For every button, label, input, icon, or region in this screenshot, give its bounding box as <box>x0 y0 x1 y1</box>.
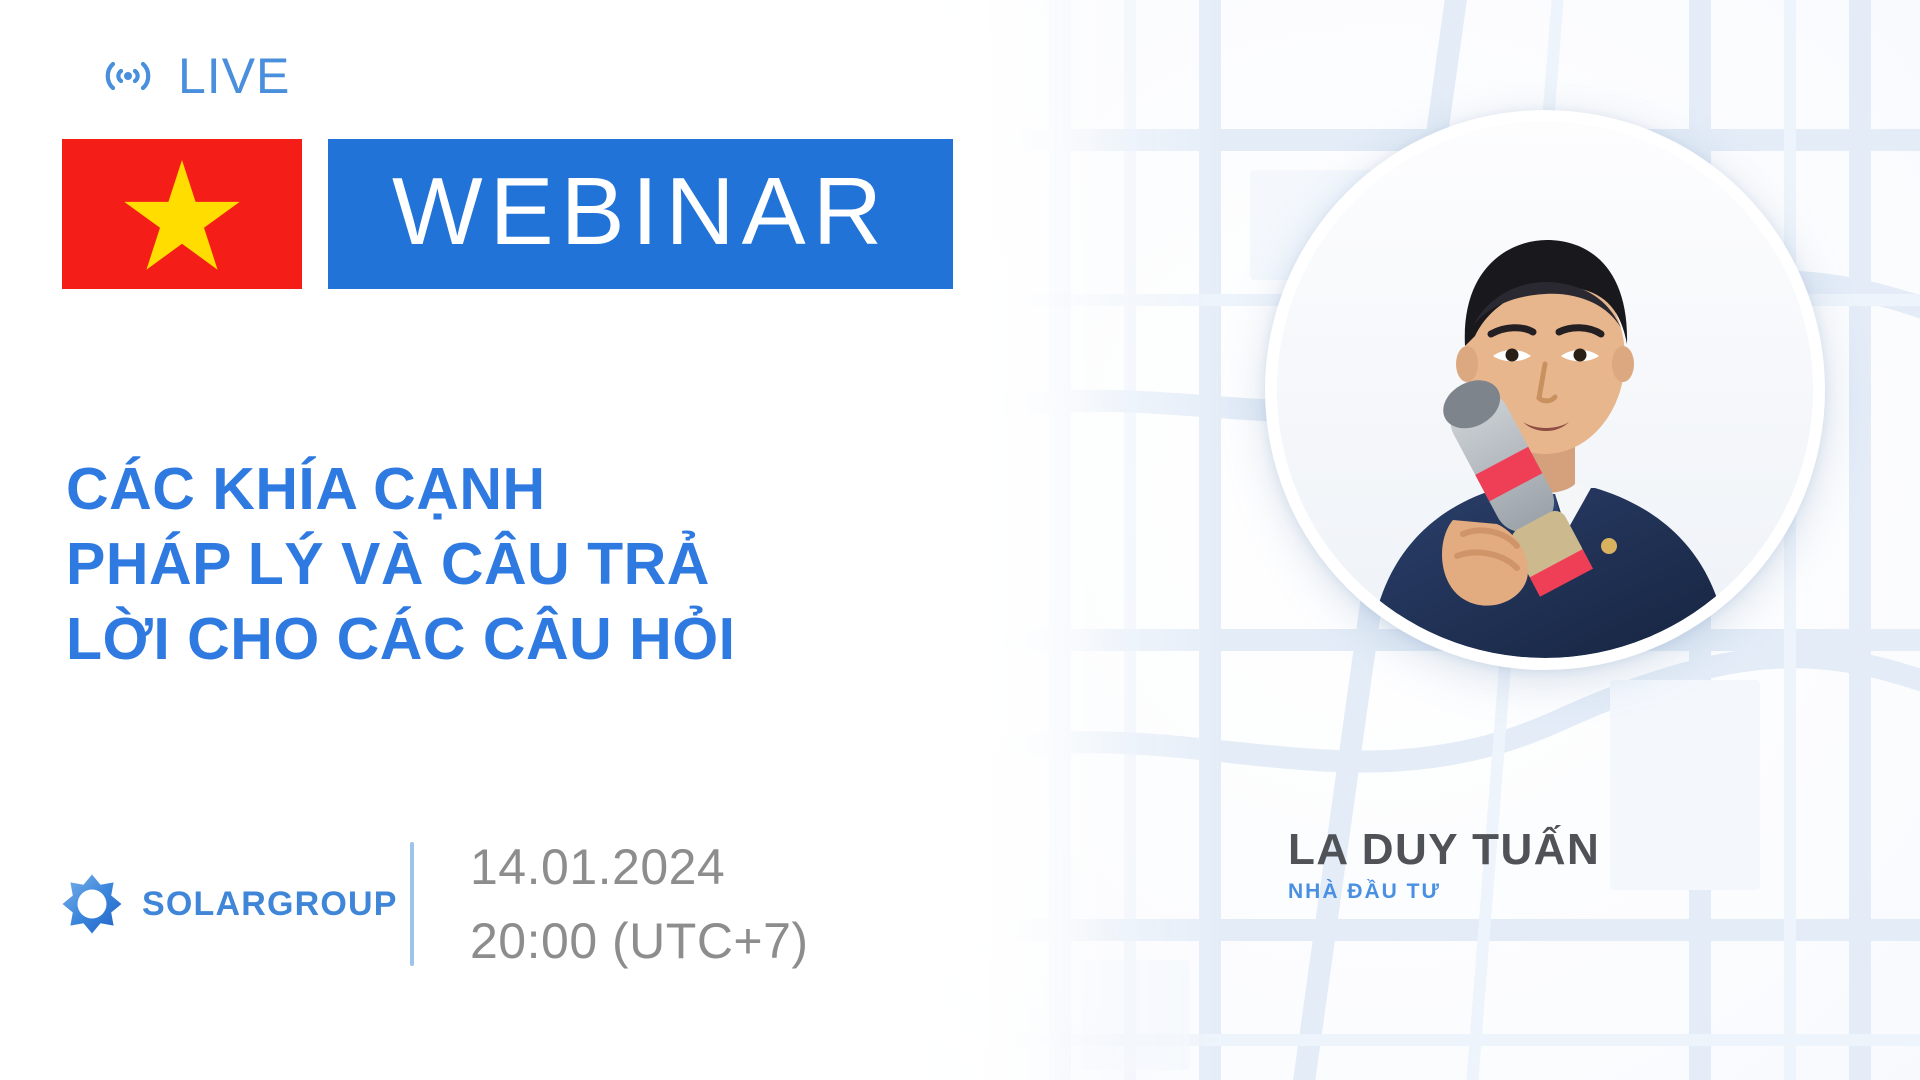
event-date: 14.01.2024 <box>470 830 809 904</box>
solargroup-logo: SOLARGROUP <box>60 872 400 936</box>
speaker-name: LA DUY TUẤN <box>1288 826 1888 874</box>
vietnam-flag-icon <box>62 139 302 289</box>
live-badge: LIVE <box>96 50 290 102</box>
speaker-portrait <box>1277 122 1813 658</box>
page-title: CÁC KHÍA CẠNH PHÁP LÝ VÀ CÂU TRẢ LỜI CHO… <box>66 452 735 677</box>
headline-line-3: LỜI CHO CÁC CÂU HỎI <box>66 602 735 677</box>
event-time: 20:00 (UTC+7) <box>470 904 809 978</box>
webinar-label: WEBINAR <box>392 164 889 264</box>
schedule-block: 14.01.2024 20:00 (UTC+7) <box>470 830 809 978</box>
solargroup-wordmark: SOLARGROUP <box>142 885 398 924</box>
live-label: LIVE <box>178 51 290 101</box>
footer-divider <box>410 842 414 966</box>
broadcast-icon <box>96 50 160 102</box>
speaker-avatar <box>1265 110 1825 670</box>
headline-line-1: CÁC KHÍA CẠNH <box>66 452 735 527</box>
speaker-caption: LA DUY TUẤN NHÀ ĐẦU TƯ <box>1288 826 1888 904</box>
speaker-role: NHÀ ĐẦU TƯ <box>1288 880 1888 904</box>
webinar-banner: WEBINAR <box>328 139 953 289</box>
headline-line-2: PHÁP LÝ VÀ CÂU TRẢ <box>66 527 735 602</box>
webinar-banner-row: WEBINAR <box>62 139 953 289</box>
solargroup-sun-icon <box>60 872 124 936</box>
footer-row: SOLARGROUP 14.01.2024 20:00 (UTC+7) <box>60 830 809 978</box>
